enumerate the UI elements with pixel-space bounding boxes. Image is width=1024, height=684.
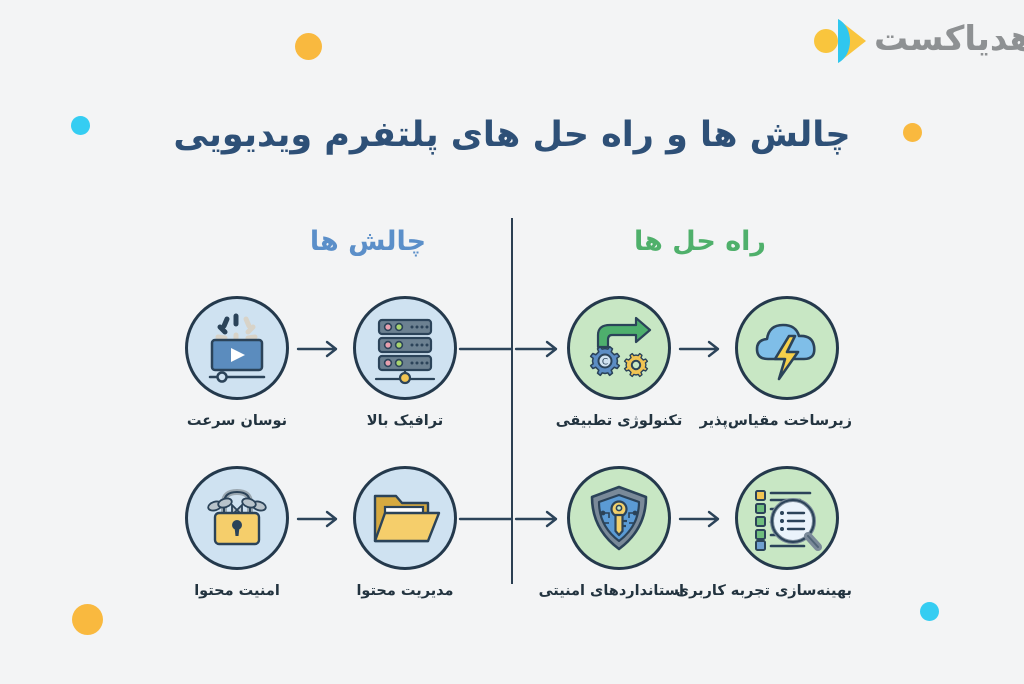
play-mark-icon [812,15,868,67]
cloud-lightning-icon [735,296,839,400]
shield-key-icon [567,466,671,570]
node-label: نوسان سرعت [172,412,302,430]
node-scalable-infrastructure[interactable]: زیرساخت مقیاس‌پذیر [722,296,852,430]
node-label: امنیت محتوا [172,582,302,600]
node-ux-optimization[interactable]: بهینه‌سازی تجربه کاربری [722,466,852,600]
arrow-mgmt-to-divider [458,508,514,530]
gears-arrow-icon: C [567,296,671,400]
node-label: تکنولوژی تطبیقی [554,412,684,430]
infographic-canvas: هدیاکست چالش ها و راه حل های پلتفرم ویدی… [0,0,1024,684]
folder-documents-icon [353,466,457,570]
node-label: ترافیک بالا [340,412,470,430]
arrow-security-to-mgmt [296,508,344,530]
video-player-buffering-icon [185,296,289,400]
brand-logo-text: هدیاکست [874,22,1024,60]
page-title: چالش ها و راه حل های پلتفرم ویدیویی [0,112,1024,158]
decor-dot-orange-bottom [72,604,103,635]
decor-dot-orange-top [295,33,322,60]
node-adaptive-technology[interactable]: C تکنولوژی تطبیقی [554,296,684,430]
decor-dot-cyan-bottom [920,602,939,621]
node-content-security[interactable]: امنیت محتوا [172,466,302,600]
arrow-speed-to-traffic [296,338,344,360]
svg-text:C: C [602,358,608,368]
node-content-management[interactable]: مدیریت محتوا [340,466,470,600]
arrow-divider-to-adaptive [516,338,564,360]
arrow-standards-to-ux [678,508,726,530]
arrow-traffic-to-divider [458,338,514,360]
node-label: استانداردهای امنیتی [554,582,684,600]
column-heading-solutions: راه حل ها [560,228,840,255]
node-speed-fluctuation[interactable]: نوسان سرعت [172,296,302,430]
node-security-standards[interactable]: استانداردهای امنیتی [554,466,684,600]
node-high-traffic[interactable]: ترافیک بالا [340,296,470,430]
column-heading-challenges: چالش ها [248,228,488,255]
node-label: بهینه‌سازی تجربه کاربری [722,582,852,600]
node-label: زیرساخت مقیاس‌پذیر [722,412,852,430]
server-rack-icon [353,296,457,400]
magnifier-checklist-icon [735,466,839,570]
brand-logo[interactable]: هدیاکست [812,12,1012,70]
arrow-divider-to-standards [516,508,564,530]
arrow-adaptive-to-cloud [678,338,726,360]
node-label: مدیریت محتوا [340,582,470,600]
broken-lock-chain-icon [185,466,289,570]
